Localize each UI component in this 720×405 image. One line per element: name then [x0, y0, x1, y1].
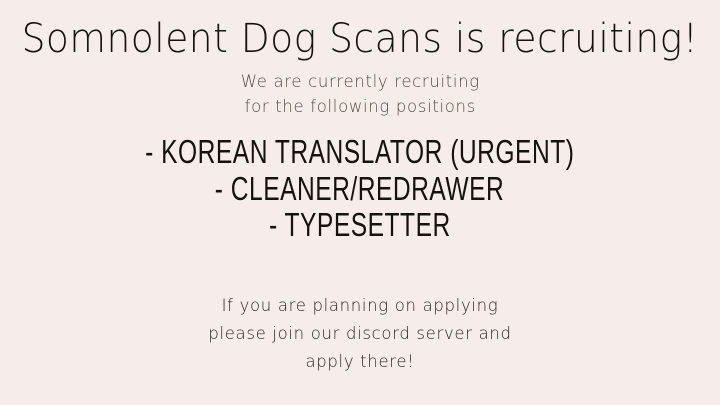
list-item: - TYPESETTER: [269, 207, 451, 247]
recruitment-poster: Somnolent Dog Scans is recruiting! We ar…: [0, 0, 720, 405]
application-instructions: If you are planning on applying please j…: [11, 292, 709, 376]
positions-list: - KOREAN TRANSLATOR (URGENT) - CLEANER/R…: [98, 135, 622, 245]
list-item: - CLEANER/REDRAWER: [215, 170, 505, 210]
subtitle-line-1: We are currently recruiting: [240, 70, 479, 95]
page-title: Somnolent Dog Scans is recruiting!: [22, 18, 699, 60]
subtitle-line-2: for the following positions: [240, 95, 479, 120]
list-item: - KOREAN TRANSLATOR (URGENT): [145, 133, 574, 173]
subtitle-block: We are currently recruiting for the foll…: [240, 70, 479, 119]
instruction-line-2: please join our discord server and: [11, 320, 709, 348]
instruction-line-3: apply there!: [11, 348, 709, 376]
instruction-line-1: If you are planning on applying: [11, 292, 709, 320]
